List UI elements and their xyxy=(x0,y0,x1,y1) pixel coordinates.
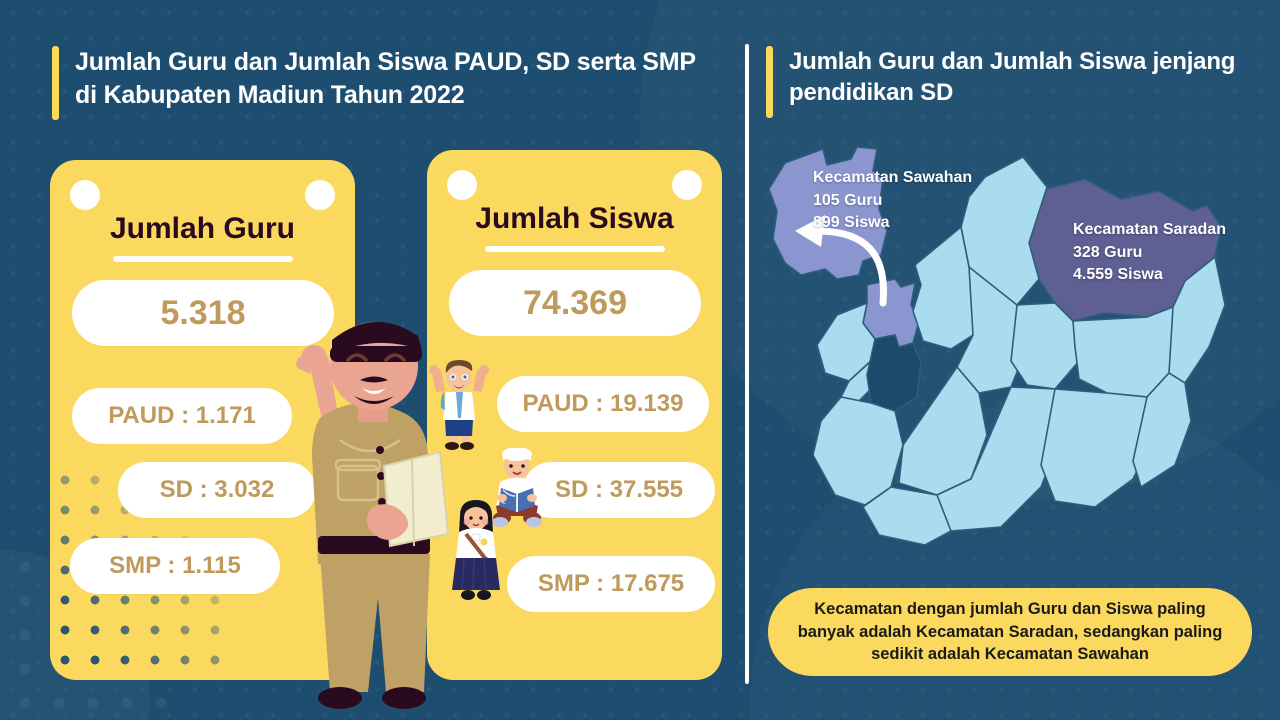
guru-total-value: 5.318 xyxy=(72,280,334,346)
card-hole-left-icon xyxy=(447,170,477,200)
siswa-smp-row: SMP : 17.675 xyxy=(507,556,715,612)
right-panel-title: Jumlah Guru dan Jumlah Siswa jenjang pen… xyxy=(766,46,1246,118)
guru-smp-row: SMP : 1.115 xyxy=(70,538,280,594)
map-label-sawahan-name: Kecamatan Sawahan xyxy=(813,167,972,190)
title-accent-bar xyxy=(52,46,59,120)
guru-paud-row: PAUD : 1.171 xyxy=(72,388,292,444)
map-region-highlight-dark xyxy=(867,335,921,411)
card-hole-right-icon xyxy=(672,170,702,200)
map-container: Kecamatan Sawahan 105 Guru 899 Siswa Kec… xyxy=(755,135,1265,565)
map-caption: Kecamatan dengan jumlah Guru dan Siswa p… xyxy=(768,588,1252,676)
map-label-saradan-name: Kecamatan Saradan xyxy=(1073,219,1226,242)
left-title-text: Jumlah Guru dan Jumlah Siswa PAUD, SD se… xyxy=(75,46,722,111)
card-title-underline xyxy=(113,256,293,262)
card-title-siswa: Jumlah Siswa xyxy=(427,202,722,236)
map-label-saradan-teachers: 328 Guru xyxy=(1073,242,1226,265)
title-accent-bar xyxy=(766,46,773,118)
map-label-sawahan: Kecamatan Sawahan 105 Guru 899 Siswa xyxy=(813,167,972,235)
infographic-canvas: Jumlah Guru dan Jumlah Siswa PAUD, SD se… xyxy=(0,0,1280,720)
siswa-sd-row: SD : 37.555 xyxy=(523,462,715,518)
map-label-saradan-students: 4.559 Siswa xyxy=(1073,264,1226,287)
card-hole-left-icon xyxy=(70,180,100,210)
siswa-paud-row: PAUD : 19.139 xyxy=(497,376,709,432)
map-label-sawahan-teachers: 105 Guru xyxy=(813,190,972,213)
card-title-underline xyxy=(485,246,665,252)
siswa-total-value: 74.369 xyxy=(449,270,701,336)
map-region-central-east xyxy=(1011,303,1079,389)
panel-divider xyxy=(745,44,749,684)
guru-sd-row: SD : 3.032 xyxy=(118,462,316,518)
left-panel-title: Jumlah Guru dan Jumlah Siswa PAUD, SD se… xyxy=(52,46,722,120)
card-title-guru: Jumlah Guru xyxy=(50,212,355,246)
stat-card-siswa: Jumlah Siswa 74.369 PAUD : 19.139 SD : 3… xyxy=(427,150,722,680)
map-label-sawahan-students: 899 Siswa xyxy=(813,212,972,235)
stat-card-guru: Jumlah Guru 5.318 PAUD : 1.171 SD : 3.03… xyxy=(50,160,355,680)
map-label-saradan: Kecamatan Saradan 328 Guru 4.559 Siswa xyxy=(1073,219,1226,287)
card-hole-right-icon xyxy=(305,180,335,210)
right-title-text: Jumlah Guru dan Jumlah Siswa jenjang pen… xyxy=(789,46,1246,108)
